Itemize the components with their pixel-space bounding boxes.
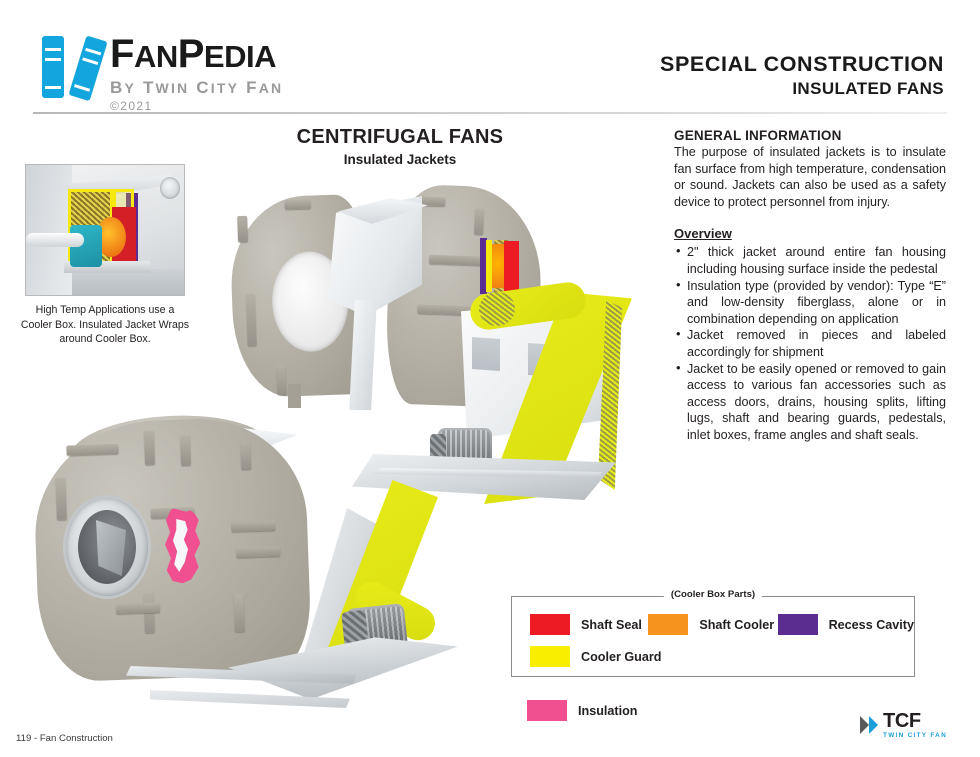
legend-swatch: [530, 646, 570, 667]
legend-swatch: [530, 614, 570, 635]
cooler-box-assembly-top: [480, 238, 520, 294]
legend-label: Shaft Cooler: [699, 618, 774, 632]
book-upright-icon: [42, 36, 64, 98]
legend-label: Cooler Guard: [581, 650, 661, 664]
cooler-box-render-image: [25, 164, 185, 296]
overview-bullet-list: 2" thick jacket around entire fan housin…: [674, 244, 946, 443]
cooler-box-parts-legend: (Cooler Box Parts) Shaft Seal Shaft Cool…: [511, 596, 915, 677]
legend-title: (Cooler Box Parts): [664, 589, 762, 600]
overview-heading: Overview: [674, 226, 946, 241]
brand-copyright: ©2021: [110, 99, 283, 113]
legend-row-1: Shaft Seal Shaft Cooler Recess Cavity: [530, 614, 914, 635]
legend-row-2: Cooler Guard: [530, 646, 914, 667]
legend-item-shaft-seal: Shaft Seal: [530, 614, 648, 635]
general-information-column: GENERAL INFORMATION The purpose of insul…: [674, 128, 946, 444]
housing-support-leg: [288, 384, 301, 408]
list-item: Insulation type (provided by vendor): Ty…: [674, 278, 946, 328]
fanpedia-books-logo-icon: [38, 30, 110, 100]
brand-byline: BY TWIN CITY FAN: [110, 78, 283, 98]
page-root: FANPEDIA BY TWIN CITY FAN ©2021 SPECIAL …: [0, 0, 980, 757]
legend-swatch: [778, 614, 818, 635]
header-title-primary: SPECIAL CONSTRUCTION: [660, 52, 944, 77]
legend-label: Insulation: [578, 704, 637, 718]
list-item: Jacket removed in pieces and labeled acc…: [674, 327, 946, 360]
page-header: FANPEDIA BY TWIN CITY FAN ©2021 SPECIAL …: [0, 0, 980, 112]
tcf-logo: TCF TWIN CITY FAN: [860, 712, 956, 742]
lifting-lug-icon: [160, 177, 180, 199]
section-title-block: CENTRIFUGAL FANS Insulated Jackets: [220, 126, 580, 167]
legend-item-shaft-cooler: Shaft Cooler: [648, 614, 777, 635]
book-tilted-icon: [68, 35, 107, 101]
tcf-initials: TCF: [883, 711, 947, 731]
tcf-subtitle: TWIN CITY FAN: [883, 732, 947, 739]
section-subtitle: Insulated Jackets: [220, 152, 580, 167]
legend-item-cooler-guard: Cooler Guard: [530, 646, 660, 667]
legend-label: Recess Cavity: [829, 618, 914, 632]
list-item: 2" thick jacket around entire fan housin…: [674, 244, 946, 277]
chevron-right-icon-dark: [860, 716, 869, 734]
inset-caption: High Temp Applications use a Cooler Box.…: [19, 303, 191, 347]
brand-title: FANPEDIA: [110, 34, 283, 77]
chevron-right-icon-blue: [869, 716, 878, 734]
section-title: CENTRIFUGAL FANS: [220, 126, 580, 149]
fan-shaft: [26, 233, 84, 247]
legend-item-recess-cavity: Recess Cavity: [778, 614, 914, 635]
list-item: Jacket to be easily opened or removed to…: [674, 361, 946, 444]
general-information-body: The purpose of insulated jackets is to i…: [674, 144, 946, 210]
header-divider: [33, 112, 947, 114]
header-title-block: SPECIAL CONSTRUCTION INSULATED FANS: [660, 52, 944, 99]
general-information-heading: GENERAL INFORMATION: [674, 128, 946, 143]
cooler-box-inset-figure: High Temp Applications use a Cooler Box.…: [25, 164, 185, 347]
legend-swatch: [527, 700, 567, 721]
legend-label: Shaft Seal: [581, 618, 642, 632]
brand-wordmark: FANPEDIA BY TWIN CITY FAN ©2021: [110, 34, 283, 113]
inlet-duct-column: [349, 300, 377, 410]
header-title-secondary: INSULATED FANS: [660, 79, 944, 99]
legend-item-insulation: Insulation: [527, 700, 637, 721]
access-panel-left: [472, 337, 500, 371]
footer-page-note: 119 - Fan Construction: [16, 733, 113, 744]
legend-swatch: [648, 614, 688, 635]
